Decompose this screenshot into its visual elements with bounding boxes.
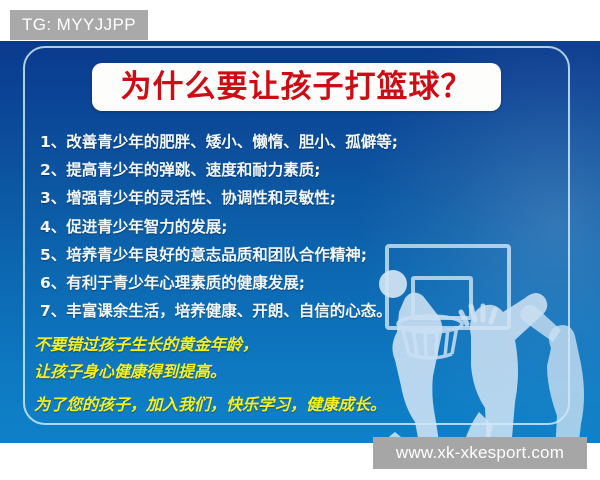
- list-item: 4、促进青少年智力的发展;: [40, 213, 510, 241]
- list-item: 3、增强青少年的灵活性、协调性和灵敏性;: [40, 184, 510, 212]
- benefits-list: 1、改善青少年的肥胖、矮小、懒惰、胆小、孤僻等; 2、提高青少年的弹跳、速度和耐…: [40, 128, 510, 325]
- slogan-block: 不要错过孩子生长的黄金年龄， 让孩子身心健康得到提高。 为了您的孩子，加入我们，…: [34, 331, 514, 418]
- list-item: 1、改善青少年的肥胖、矮小、懒惰、胆小、孤僻等;: [40, 128, 510, 156]
- poster-image: 为什么要让孩子打篮球？ 1、改善青少年的肥胖、矮小、懒惰、胆小、孤僻等; 2、提…: [0, 0, 600, 480]
- slogan-line: 为了您的孩子，加入我们，快乐学习，健康成长。: [34, 391, 514, 418]
- page-title: 为什么要让孩子打篮球？: [121, 72, 473, 103]
- list-item: 7、丰富课余生活，培养健康、开朗、自信的心态。: [40, 297, 510, 325]
- list-item: 2、提高青少年的弹跳、速度和耐力素质;: [40, 156, 510, 184]
- list-item: 5、培养青少年良好的意志品质和团队合作精神;: [40, 241, 510, 269]
- slogan-line: 不要错过孩子生长的黄金年龄，: [34, 331, 514, 358]
- watermark-badge: www.xk-xkesport.com: [373, 437, 587, 469]
- tg-tag-badge: TG: MYYJJPP: [10, 10, 148, 40]
- list-item: 6、有利于青少年心理素质的健康发展;: [40, 269, 510, 297]
- poster-title-box: 为什么要让孩子打篮球？: [92, 63, 501, 111]
- slogan-line: 让孩子身心健康得到提高。: [34, 358, 514, 385]
